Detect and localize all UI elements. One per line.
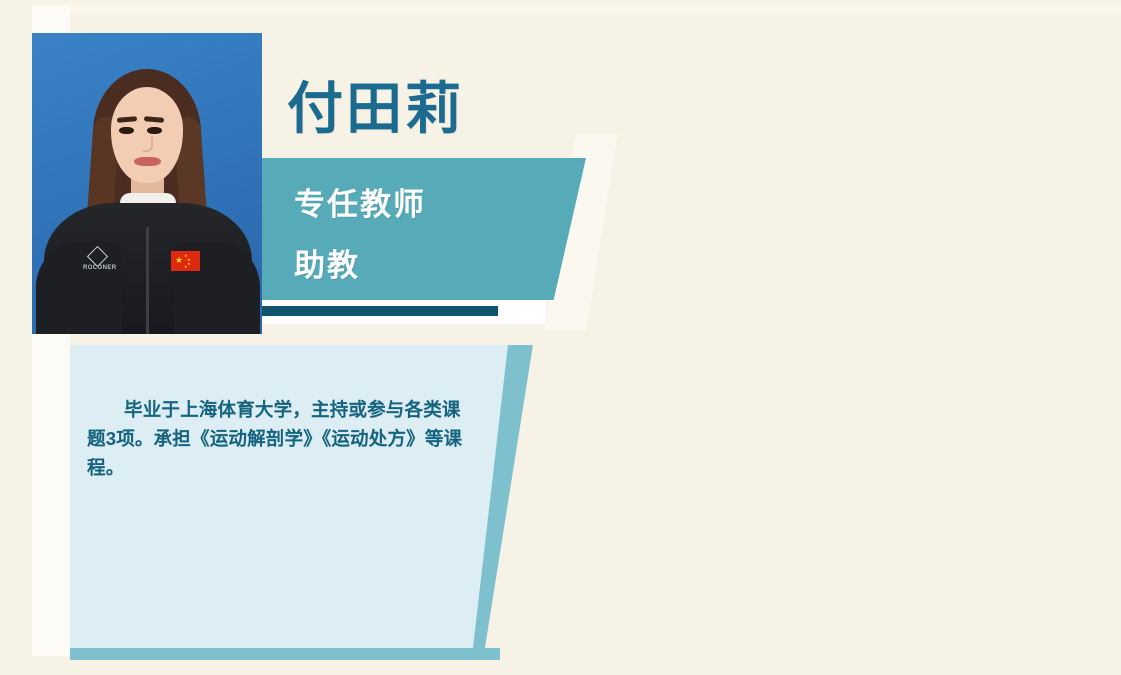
brand-text: ROCONER xyxy=(83,265,116,271)
eye-right xyxy=(147,127,162,134)
role-label-primary: 专任教师 xyxy=(294,174,586,235)
jacket-shoulder-left xyxy=(36,241,122,334)
top-accent-band xyxy=(34,4,1121,14)
face-shape xyxy=(111,87,183,183)
china-flag-icon: ★ ★ ★ ★ ★ xyxy=(171,251,200,271)
flag-star-large: ★ xyxy=(175,256,183,265)
eye-left xyxy=(119,127,134,134)
biography-text: 毕业于上海体育大学，主持或参与各类课题3项。承担《运动解剖学》《运动处方》等课程… xyxy=(87,395,466,482)
role-label-secondary: 助教 xyxy=(294,235,586,296)
slide-canvas: 专任教师 助教 付田莉 ★ ★ ★ ★ ★ ROCONER xyxy=(0,0,1121,675)
banner-underline-bar xyxy=(262,306,498,316)
person-name: 付田莉 xyxy=(287,78,464,140)
info-card: 毕业于上海体育大学，主持或参与各类课题3项。承担《运动解剖学》《运动处方》等课程… xyxy=(70,345,508,648)
role-banner: 专任教师 助教 xyxy=(262,158,586,300)
portrait-photo: ★ ★ ★ ★ ★ ROCONER xyxy=(32,33,262,334)
nose-shape xyxy=(143,137,153,152)
jacket-zipper xyxy=(146,227,149,334)
mouth-shape xyxy=(134,157,161,166)
info-card-shadow-bottom xyxy=(70,648,500,660)
flag-star-small-4: ★ xyxy=(184,265,188,269)
